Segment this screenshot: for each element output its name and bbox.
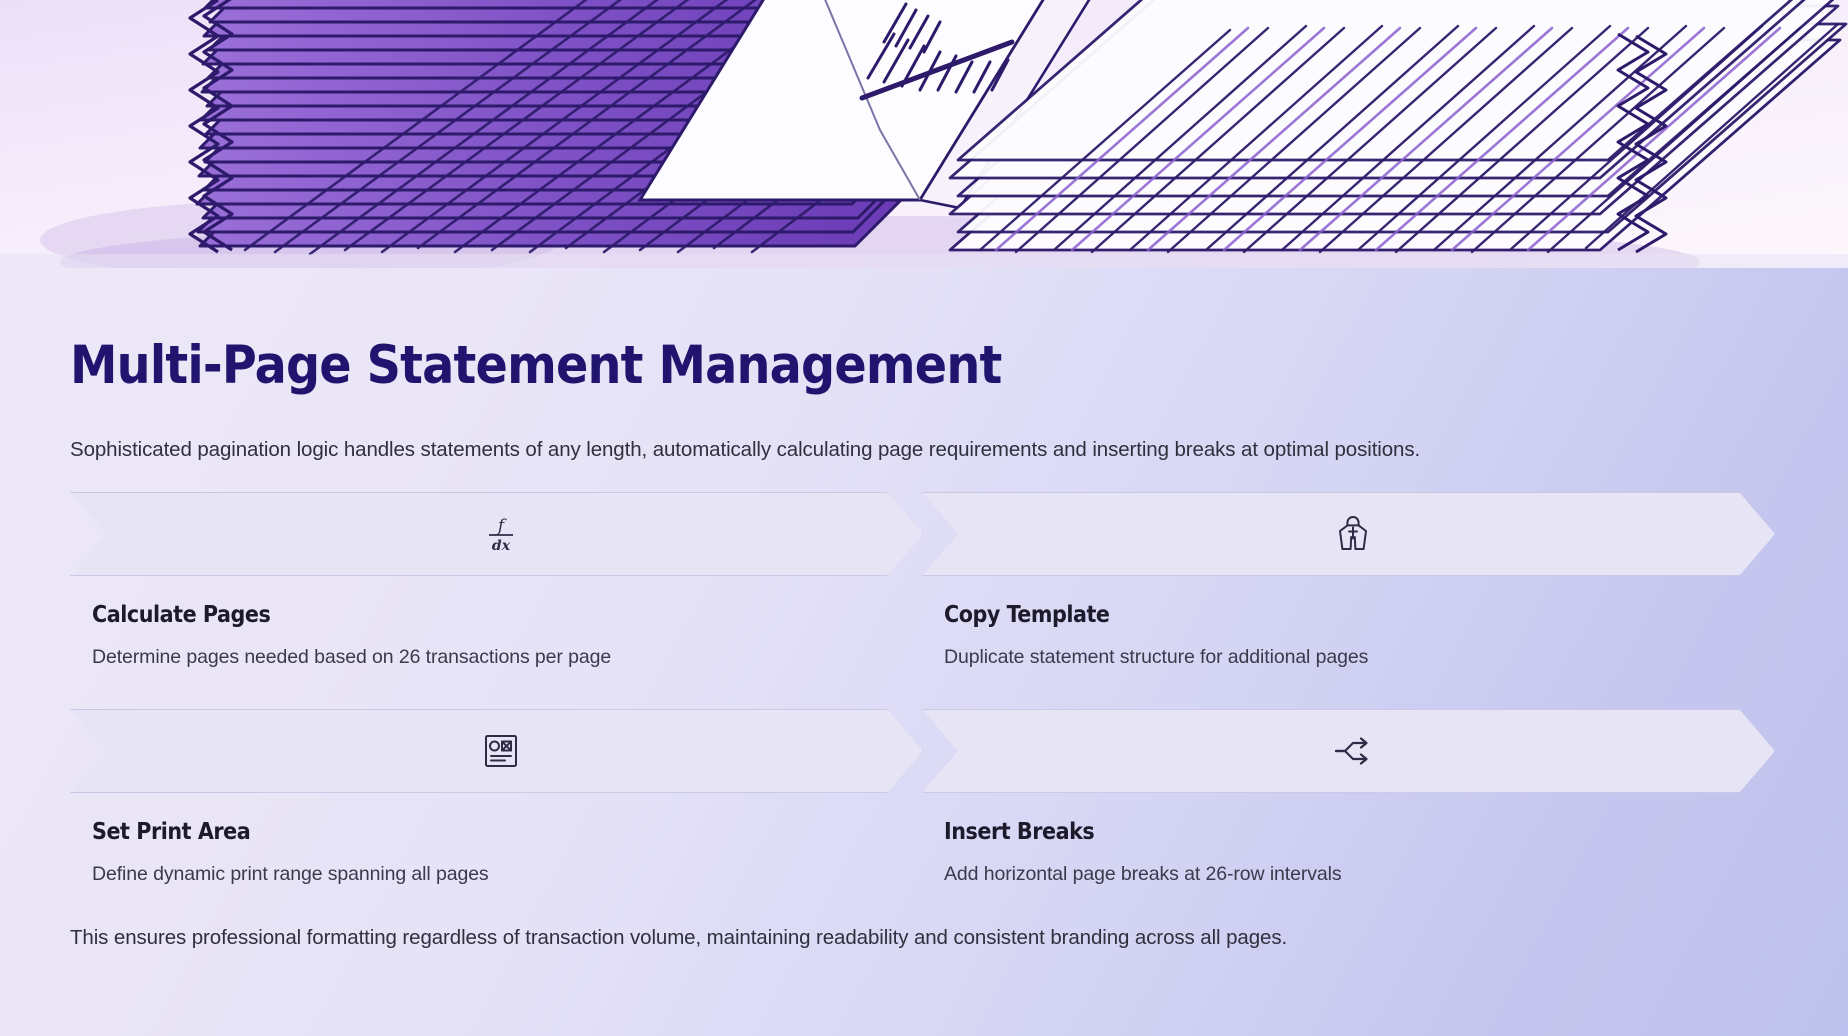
- step-banner: [922, 709, 1775, 793]
- steps-row-2: Set Print Area Define dynamic print rang…: [0, 709, 1848, 926]
- step-title: Calculate Pages: [92, 602, 923, 628]
- svg-text:dx: dx: [491, 538, 510, 554]
- step-description: Determine pages needed based on 26 trans…: [92, 646, 923, 669]
- page-title: Multi-Page Statement Management: [70, 338, 1001, 394]
- page-subtitle: Sophisticated pagination logic handles s…: [70, 438, 1420, 462]
- step-title: Copy Template: [944, 602, 1775, 628]
- steps-row-1: f dx Calculate Pages Determine pages nee…: [0, 492, 1848, 709]
- svg-text:f: f: [495, 516, 506, 536]
- step-description: Define dynamic print range spanning all …: [92, 863, 923, 886]
- step-card-insert-breaks[interactable]: Insert Breaks Add horizontal page breaks…: [922, 709, 1775, 926]
- branch-split-arrows-icon: [1331, 729, 1375, 773]
- step-description: Duplicate statement structure for additi…: [944, 646, 1775, 669]
- step-banner: [70, 709, 923, 793]
- step-card-set-print-area[interactable]: Set Print Area Define dynamic print rang…: [70, 709, 923, 926]
- feature-content: Multi-Page Statement Management Sophisti…: [0, 268, 1848, 1036]
- step-banner: f dx: [70, 492, 923, 576]
- feature-page: Multi-Page Statement Management Sophisti…: [0, 0, 1848, 1036]
- hero-illustration: [0, 0, 1848, 268]
- step-description: Add horizontal page breaks at 26-row int…: [944, 863, 1775, 886]
- steps-grid: f dx Calculate Pages Determine pages nee…: [0, 492, 1848, 926]
- step-title: Set Print Area: [92, 819, 923, 845]
- cloak-icon: [1331, 512, 1375, 556]
- footnote-text: This ensures professional formatting reg…: [70, 926, 1287, 950]
- step-card-calculate-pages[interactable]: f dx Calculate Pages Determine pages nee…: [70, 492, 923, 709]
- step-title: Insert Breaks: [944, 819, 1775, 845]
- step-card-copy-template[interactable]: Copy Template Duplicate statement struct…: [922, 492, 1775, 709]
- step-banner: [922, 492, 1775, 576]
- article-layout-icon: [479, 729, 523, 773]
- derivative-function-icon: f dx: [479, 512, 523, 556]
